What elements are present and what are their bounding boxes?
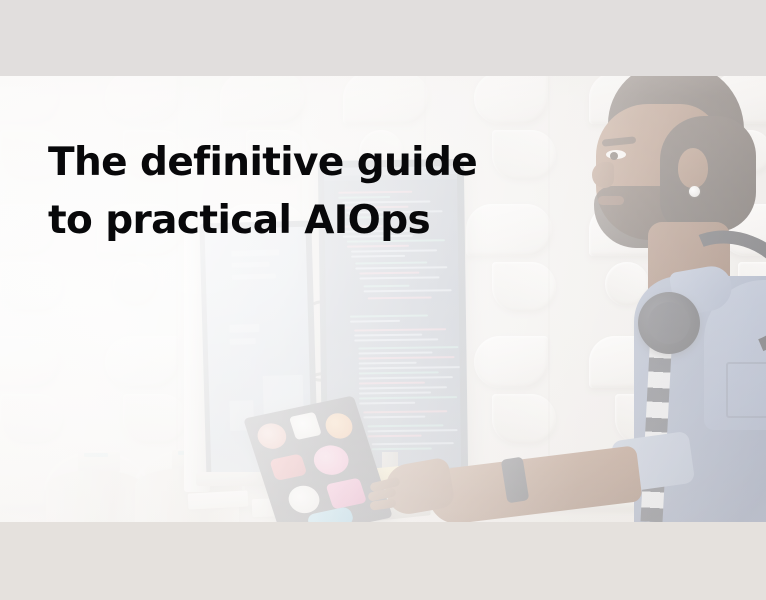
headline-line-1: The definitive guide: [48, 134, 477, 192]
headline-line-2: to practical AIOps: [48, 192, 477, 250]
page-title: The definitive guideto practical AIOps: [48, 134, 477, 250]
bottom-color-band: [0, 522, 766, 600]
hero-photograph: [0, 0, 766, 600]
hero-banner: The definitive guideto practical AIOps: [0, 0, 766, 600]
top-color-band: [0, 0, 766, 76]
photo-vignette-overlay: [0, 0, 766, 600]
